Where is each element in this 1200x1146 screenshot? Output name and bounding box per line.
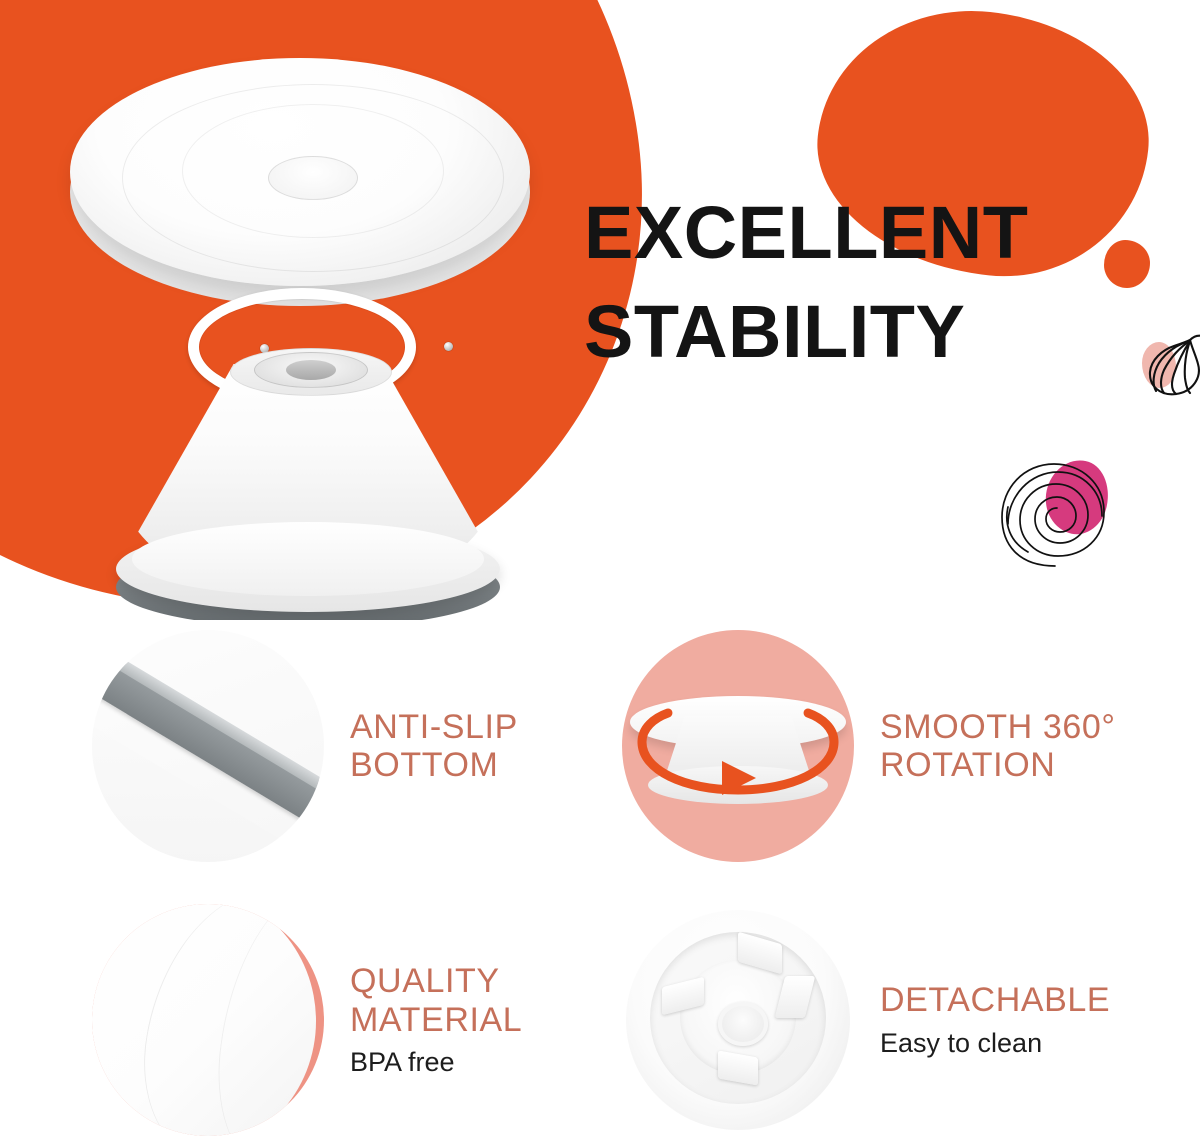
stand-screw xyxy=(444,342,453,351)
feature-subtitle: Easy to clean xyxy=(880,1028,1110,1059)
features-grid: ANTI-SLIP BOTTOM SMOOTH 360° ROTATION xyxy=(0,618,1200,1146)
product-image-cake-turntable xyxy=(58,52,578,620)
feature-text-rotation: SMOOTH 360° ROTATION xyxy=(880,708,1116,785)
hero-section: EXCELLENT STABILITY xyxy=(0,0,1200,620)
feature-quality: QUALITY MATERIAL BPA free xyxy=(92,904,522,1136)
headline-line-1: EXCELLENT xyxy=(584,196,1184,269)
garlic-bulb-icon xyxy=(1140,330,1200,402)
feature-image-rotation xyxy=(622,630,854,862)
feature-image-anti-slip xyxy=(92,630,324,862)
base-spindle-hole xyxy=(286,360,336,380)
feature-text-anti-slip: ANTI-SLIP BOTTOM xyxy=(350,708,518,785)
feature-title: DETACHABLE xyxy=(880,981,1110,1019)
hero-headline: EXCELLENT STABILITY xyxy=(584,196,1184,369)
base-center-hub xyxy=(718,1002,768,1046)
plate-center-hub xyxy=(268,156,358,200)
feature-title: SMOOTH 360° ROTATION xyxy=(880,708,1116,785)
rose-swirl-lines xyxy=(994,452,1116,574)
rotation-arrow-icon xyxy=(622,630,854,862)
feature-title: ANTI-SLIP BOTTOM xyxy=(350,708,518,785)
feature-text-detachable: DETACHABLE Easy to clean xyxy=(880,981,1110,1058)
feature-subtitle: BPA free xyxy=(350,1047,522,1078)
headline-line-2: STABILITY xyxy=(584,295,1184,368)
feature-title: QUALITY MATERIAL xyxy=(350,962,522,1039)
infographic-canvas: EXCELLENT STABILITY xyxy=(0,0,1200,1146)
feature-anti-slip: ANTI-SLIP BOTTOM xyxy=(92,630,518,862)
rose-swirl-icon xyxy=(994,452,1116,574)
turntable-plate xyxy=(70,58,530,286)
feature-image-quality xyxy=(92,904,324,1136)
feature-detachable: DETACHABLE Easy to clean xyxy=(622,904,1110,1136)
feature-image-detachable xyxy=(622,904,854,1136)
feature-rotation: SMOOTH 360° ROTATION xyxy=(622,630,1116,862)
feature-text-quality: QUALITY MATERIAL BPA free xyxy=(350,962,522,1078)
garlic-bulb-lines xyxy=(1140,330,1200,402)
base-foot-inner xyxy=(132,522,484,596)
